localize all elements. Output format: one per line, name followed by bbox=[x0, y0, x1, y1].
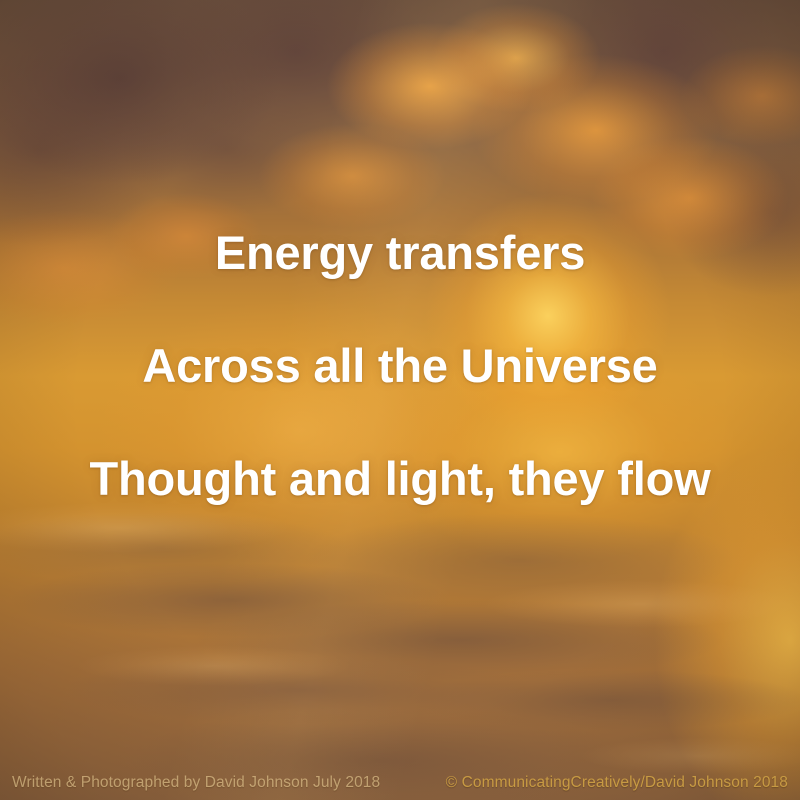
verse-line-1: Energy transfers bbox=[0, 228, 800, 279]
author-credit: Written & Photographed by David Johnson … bbox=[12, 774, 380, 792]
footer-credits: Written & Photographed by David Johnson … bbox=[0, 771, 800, 795]
verse-overlay: Energy transfers Across all the Universe… bbox=[0, 0, 800, 800]
copyright-credit: © CommunicatingCreatively/David Johnson … bbox=[446, 774, 788, 792]
verse-line-3: Thought and light, they flow bbox=[0, 454, 800, 505]
poster-canvas: Energy transfers Across all the Universe… bbox=[0, 0, 800, 800]
verse-line-2: Across all the Universe bbox=[0, 341, 800, 392]
